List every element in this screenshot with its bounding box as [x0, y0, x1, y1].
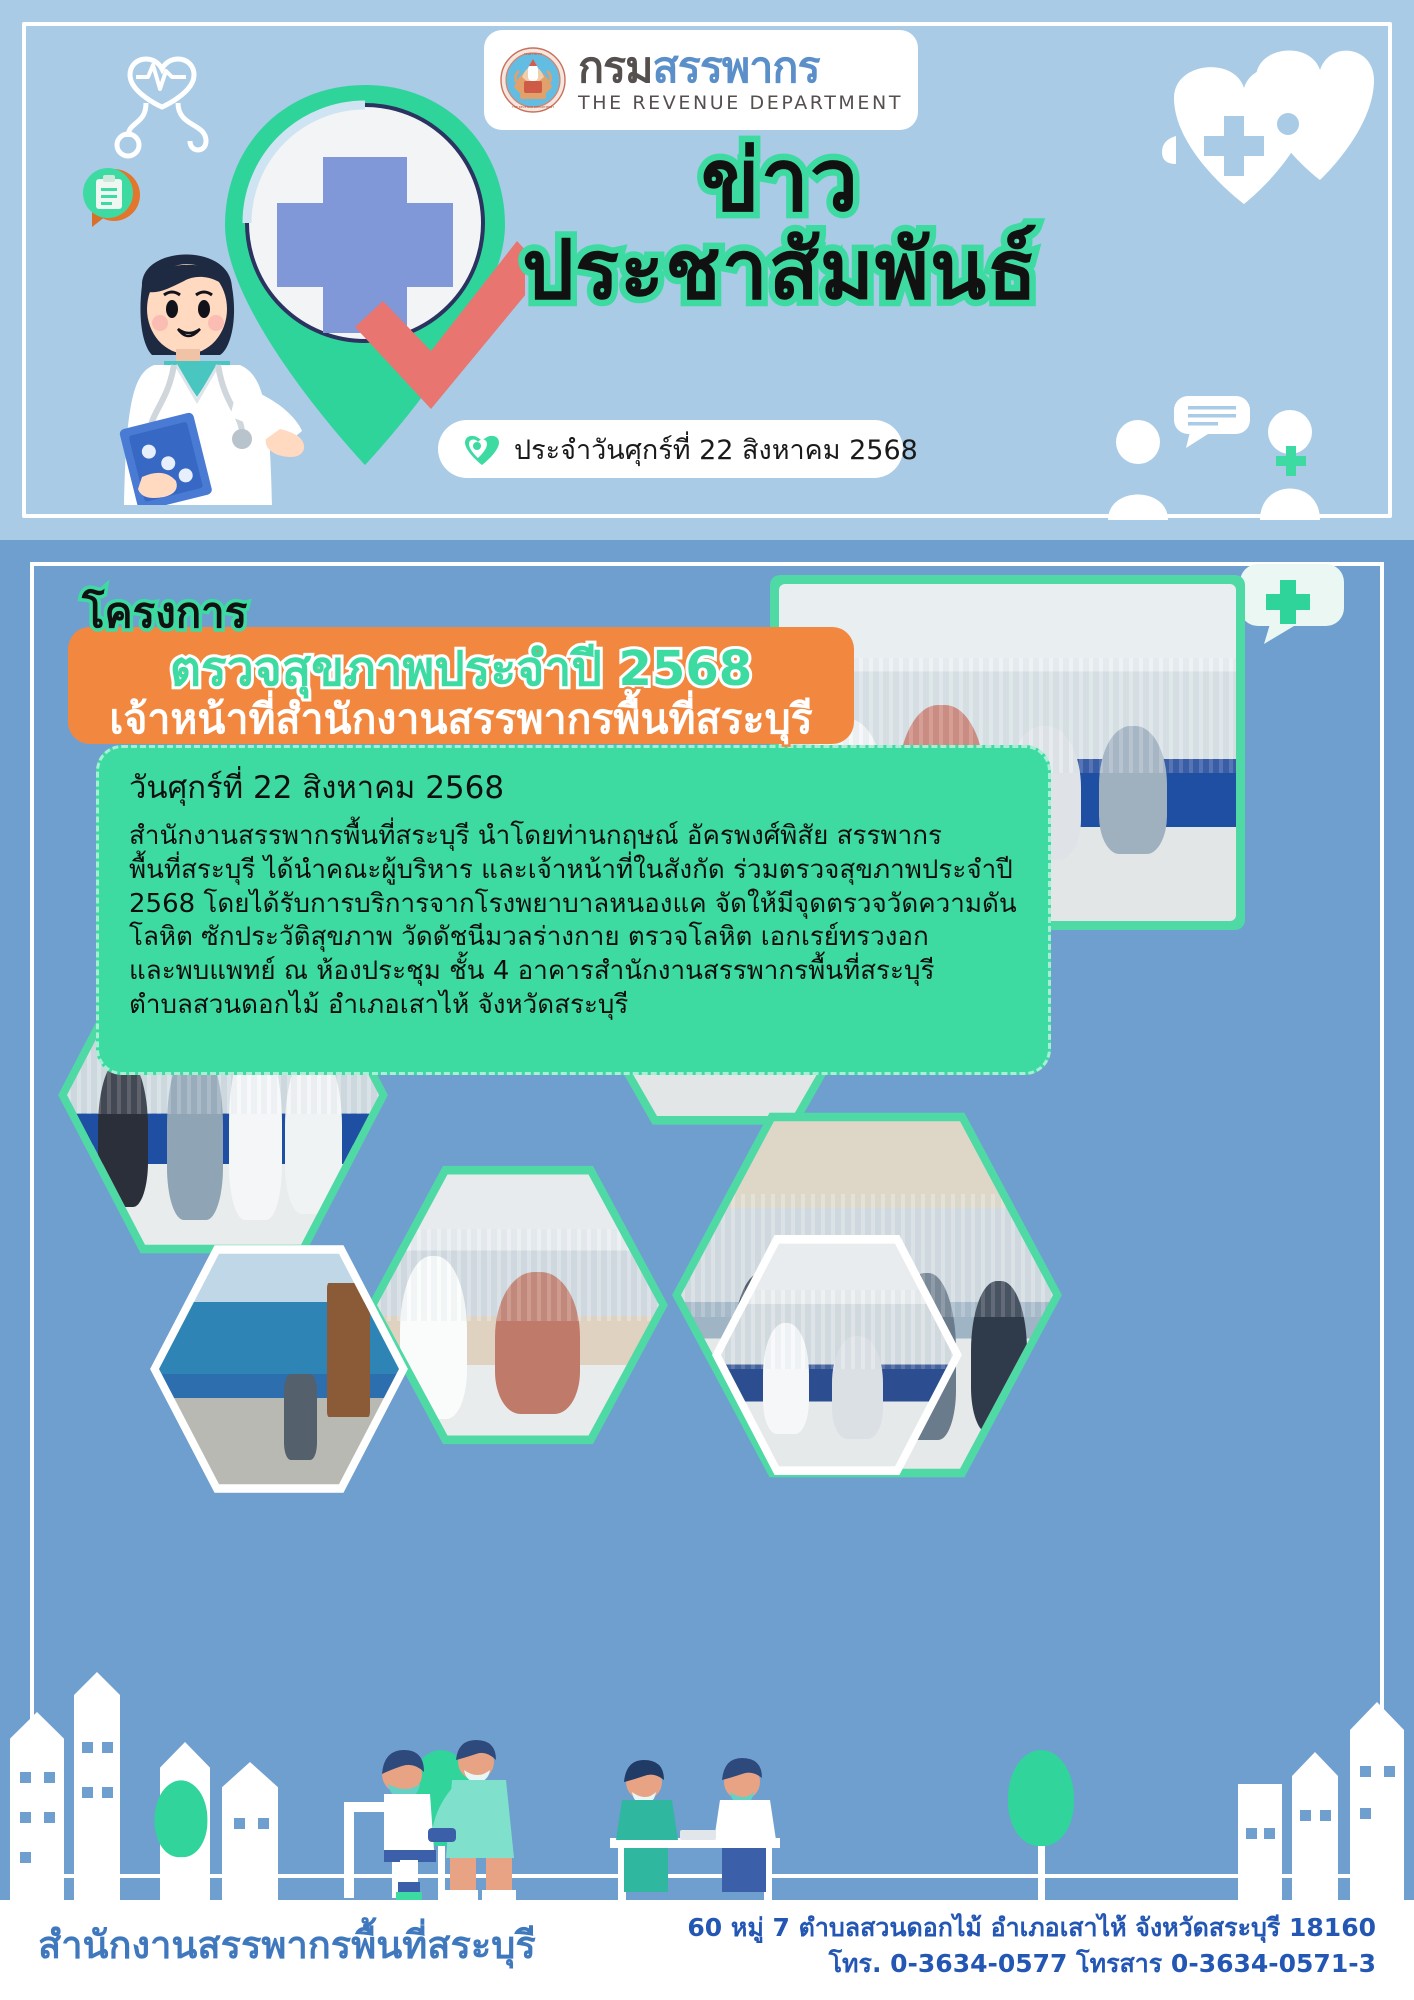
event-date: วันศุกร์ที่ 22 สิงหาคม 2568 — [129, 762, 1048, 812]
announcement-body-line: สำนักงานสรรพากรพื้นที่สระบุรี นำโดยท่านก… — [129, 820, 1009, 854]
announcement-body: สำนักงานสรรพากรพื้นที่สระบุรี นำโดยท่านก… — [129, 820, 1009, 1023]
logo-thai-dark: กรม — [578, 43, 652, 93]
svg-text:THE REVENUE DEPARTMENT: THE REVENUE DEPARTMENT — [511, 105, 554, 109]
logo-english-name: THE REVENUE DEPARTMENT — [578, 94, 903, 113]
announcement-body-line: โลหิต ซักประวัติสุขภาพ วัดดัชนีมวลร่างกา… — [129, 921, 1009, 955]
revenue-department-seal-icon: กรมสรรพากร THE REVENUE DEPARTMENT — [500, 47, 566, 113]
date-pill-label: ประจำวันศุกร์ที่ 22 สิงหาคม 2568 — [514, 428, 918, 471]
logo-thai-name: กรมสรรพากร — [578, 47, 903, 90]
logo-text-block: กรมสรรพากร THE REVENUE DEPARTMENT — [578, 47, 903, 113]
footer-office-name: สำนักงานสรรพากรพื้นที่สระบุรี — [38, 1914, 536, 1975]
logo-thai-blue: สรรพากร — [652, 43, 819, 93]
announcement-body-line: 2568 โดยได้รับการบริการจากโรงพยาบาลหนองแ… — [129, 888, 1009, 922]
footer-phone: โทร. 0-3634-0577 โทรสาร 0-3634-0571-3 — [687, 1946, 1376, 1982]
poster-header: กรมสรรพากร THE REVENUE DEPARTMENT กรมสรร… — [0, 0, 1414, 540]
announcement-body-line: พื้นที่สระบุรี ได้นำคณะผู้บริหาร และเจ้า… — [129, 854, 1009, 888]
footer-address: 60 หมู่ 7 ตำบลสวนดอกไม้ อำเภอเสาไห้ จังห… — [687, 1910, 1376, 1946]
heart-health-icon — [464, 432, 500, 466]
poster-footer: สำนักงานสรรพากรพื้นที่สระบุรี 60 หมู่ 7 … — [0, 1900, 1414, 2000]
announcement-text-panel: วันศุกร์ที่ 22 สิงหาคม 2568 สำนักงานสรรพ… — [96, 745, 1051, 1075]
revenue-department-logo: กรมสรรพากร THE REVENUE DEPARTMENT กรมสรร… — [484, 30, 918, 130]
svg-text:กรมสรรพากร: กรมสรรพากร — [524, 52, 543, 56]
medical-chat-bubble-icon — [1232, 560, 1352, 646]
project-label: โครงการ — [82, 580, 247, 646]
poster-headline: ข่าว ประชาสัมพันธ์ — [420, 138, 1140, 312]
date-pill: ประจำวันศุกร์ที่ 22 สิงหาคม 2568 — [438, 420, 903, 478]
headline-line-2: ประชาสัมพันธ์ — [420, 230, 1140, 312]
footer-contact-block: 60 หมู่ 7 ตำบลสวนดอกไม้ อำเภอเสาไห้ จังห… — [687, 1910, 1376, 1983]
announcement-poster: กรมสรรพากร THE REVENUE DEPARTMENT กรมสรร… — [0, 0, 1414, 2000]
headline-line-1: ข่าว — [420, 138, 1140, 224]
announcement-body-line: ตำบลสวนดอกไม้ อำเภอเสาไห้ จังหวัดสระบุรี — [129, 989, 1009, 1023]
banner-title-line-2: เจ้าหน้าที่สำนักงานสรรพากรพื้นที่สระบุรี — [68, 687, 854, 752]
announcement-body-line: และพบแพทย์ ณ ห้องประชุม ชั้น 4 อาคารสำนั… — [129, 955, 1009, 989]
